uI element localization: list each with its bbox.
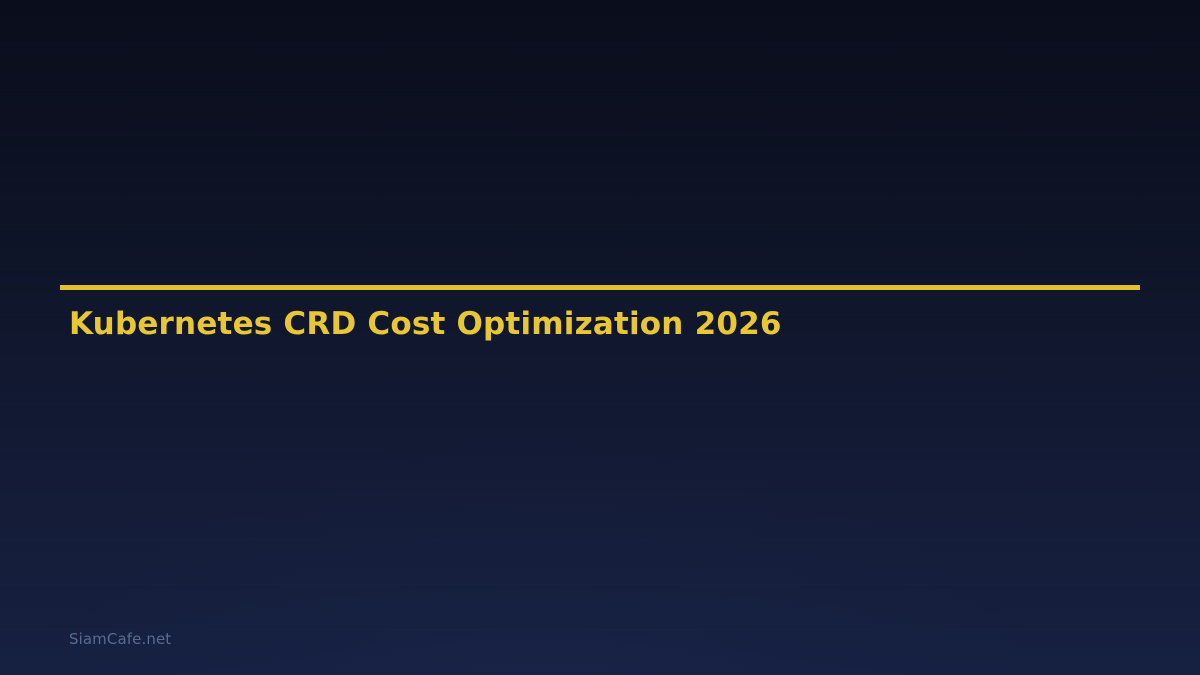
presentation-slide: Kubernetes CRD Cost Optimization 2026 Si… — [0, 0, 1200, 675]
slide-body-content — [69, 360, 1140, 610]
title-accent-rule — [60, 285, 1140, 290]
slide-title: Kubernetes CRD Cost Optimization 2026 — [69, 304, 782, 344]
footer-brand-label: SiamCafe.net — [69, 629, 171, 649]
